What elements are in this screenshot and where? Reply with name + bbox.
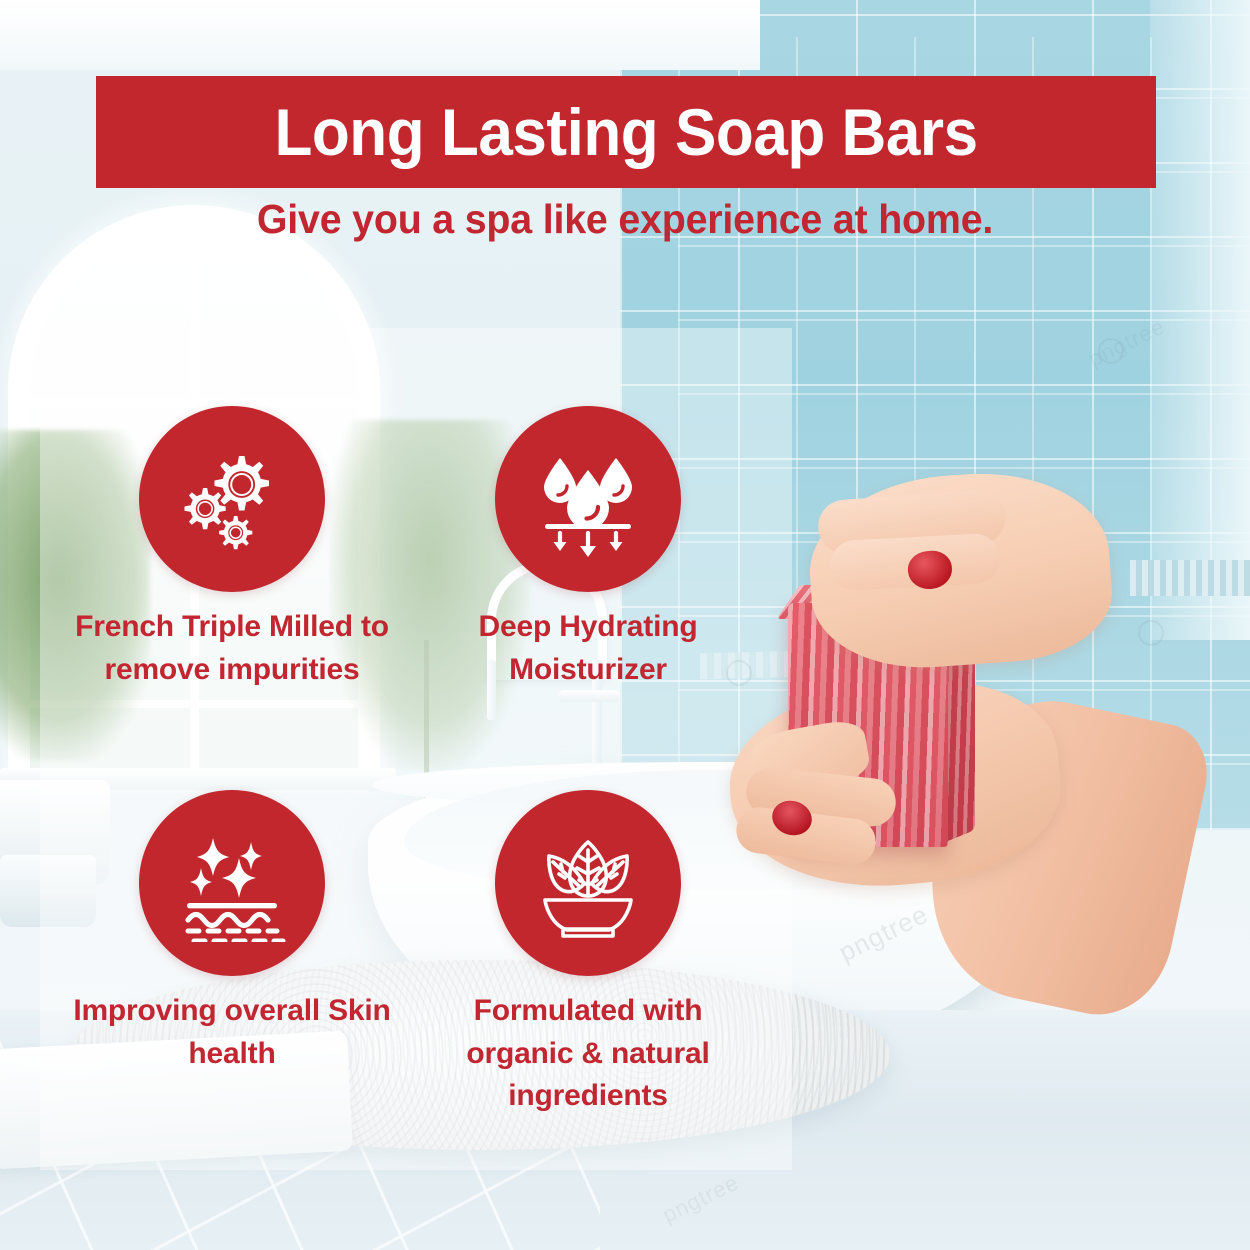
feature-organic-natural: Formulated with organic & natural ingred… <box>418 790 758 1118</box>
feature-skin-health: Improving overall Skin health <box>62 790 402 1075</box>
feature-deep-hydrating: Deep Hydrating Moisturizer <box>418 406 758 691</box>
feature-badge <box>495 790 681 976</box>
feature-badge <box>139 406 325 592</box>
headline-banner: Long Lasting Soap Bars <box>96 76 1156 188</box>
sparkling-skin-layers-icon <box>173 824 291 942</box>
leaves-bowl-icon <box>529 824 647 942</box>
subtitle: Give you a spa like experience at home. <box>25 196 1225 243</box>
ceiling <box>0 0 760 70</box>
product-infographic: Long Lasting Soap Bars Give you a spa li… <box>0 0 1250 1250</box>
hand-holding-soap <box>690 455 1160 1075</box>
gears-icon <box>173 440 291 558</box>
tile-highlight <box>1150 0 1250 640</box>
water-droplets-absorb-icon <box>529 440 647 558</box>
feature-badge <box>495 406 681 592</box>
page-title: Long Lasting Soap Bars <box>274 99 977 165</box>
feature-caption: French Triple Milled to remove impuritie… <box>62 606 402 691</box>
feature-french-triple-milled: French Triple Milled to remove impuritie… <box>62 406 402 691</box>
feature-caption: Improving overall Skin health <box>62 990 402 1075</box>
feature-badge <box>139 790 325 976</box>
feature-caption: Deep Hydrating Moisturizer <box>418 606 758 691</box>
feature-caption: Formulated with organic & natural ingred… <box>418 990 758 1118</box>
